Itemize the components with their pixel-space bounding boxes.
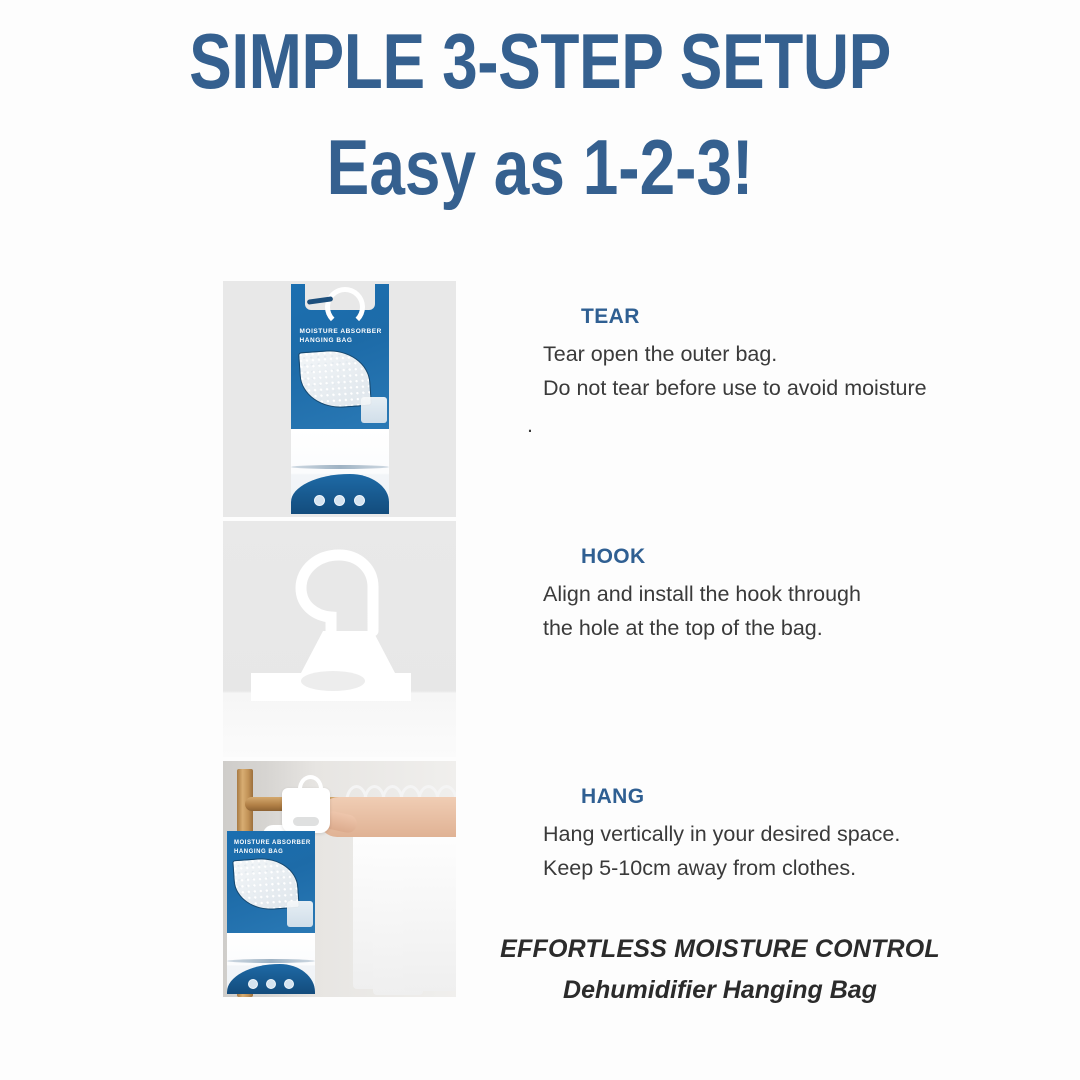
indicator-dot [334,495,345,506]
package-base-panel [227,964,315,994]
step-row-hook: HOOK Align and install the hook through … [0,521,1080,759]
package-label-line-1: MOISTURE ABSORBER [300,327,382,336]
step-title-hang: HANG [581,785,1043,809]
package-upper-panel: MOISTURE ABSORBER HANGING BAG [291,284,389,429]
footer-line-1: EFFORTLESS MOISTURE CONTROL [440,935,1000,964]
indicator-dot [314,495,325,506]
step-image-hook [223,521,456,757]
step-image-tear: MOISTURE ABSORBER HANGING BAG [223,281,456,517]
package-label-line-2: HANGING BAG [300,336,382,345]
product-package-front: MOISTURE ABSORBER HANGING BAG [291,284,389,514]
clothes-rack-scene: MOISTURE ABSORBER HANGING BAG [223,761,456,997]
step-description-line: Tear open the outer bag. [543,338,1043,372]
indicator-dot [354,495,365,506]
step-text-tear: TEAR Tear open the outer bag. Do not tea… [543,305,1043,406]
step-description-line: Keep 5-10cm away from clothes. [543,852,1043,886]
step-description-line: Hang vertically in your desired space. [543,818,1043,852]
package-hook-shape [325,287,365,327]
headline-line-1: SIMPLE 3-STEP SETUP [97,22,983,100]
package-label-text: MOISTURE ABSORBER HANGING BAG [234,839,311,856]
shirt-thumbnail-graphic [287,901,313,927]
white-hanger-icon [223,521,456,757]
step-text-hook: HOOK Align and install the hook through … [543,545,1043,646]
step-description-line: Do not tear before use to avoid moisture [543,372,1043,406]
hanging-product-package: MOISTURE ABSORBER HANGING BAG [227,831,315,994]
step-description-line: Align and install the hook through [543,578,1043,612]
step-description-line: the hole at the top of the bag. [543,612,1043,646]
package-indicator-dots [227,979,315,989]
footer-line-2: Dehumidifier Hanging Bag [440,976,1000,1005]
step-title-tear: TEAR [581,305,1043,329]
step-text-hang: HANG Hang vertically in your desired spa… [543,785,1043,886]
package-label-text: MOISTURE ABSORBER HANGING BAG [300,327,382,346]
footer-tagline: EFFORTLESS MOISTURE CONTROL Dehumidifier… [440,935,1000,1005]
package-label-line-2: HANGING BAG [234,848,311,857]
package-indicator-dots [291,495,389,506]
indicator-dot [248,979,258,989]
hanger-scene [223,521,456,757]
step-row-tear: MOISTURE ABSORBER HANGING BAG [0,281,1080,519]
package-label-line-1: MOISTURE ABSORBER [234,839,311,848]
shirt-thumbnail-graphic [361,397,387,423]
indicator-dot [266,979,276,989]
package-water-chamber [291,429,389,514]
step-title-hook: HOOK [581,545,1043,569]
package-base-panel [291,474,389,514]
water-line-graphic [227,959,315,963]
water-line-graphic [291,465,389,469]
stray-period-mark: . [527,413,533,438]
indicator-dot [284,979,294,989]
steps-list: MOISTURE ABSORBER HANGING BAG [0,281,1080,999]
bag-hanger-top [282,788,330,833]
step-image-hang: MOISTURE ABSORBER HANGING BAG [223,761,456,997]
page-title: SIMPLE 3-STEP SETUP Easy as 1-2-3! [0,22,1080,206]
headline-line-2: Easy as 1-2-3! [97,128,983,206]
package-water-chamber [227,933,315,994]
package-upper-panel: MOISTURE ABSORBER HANGING BAG [227,831,315,933]
